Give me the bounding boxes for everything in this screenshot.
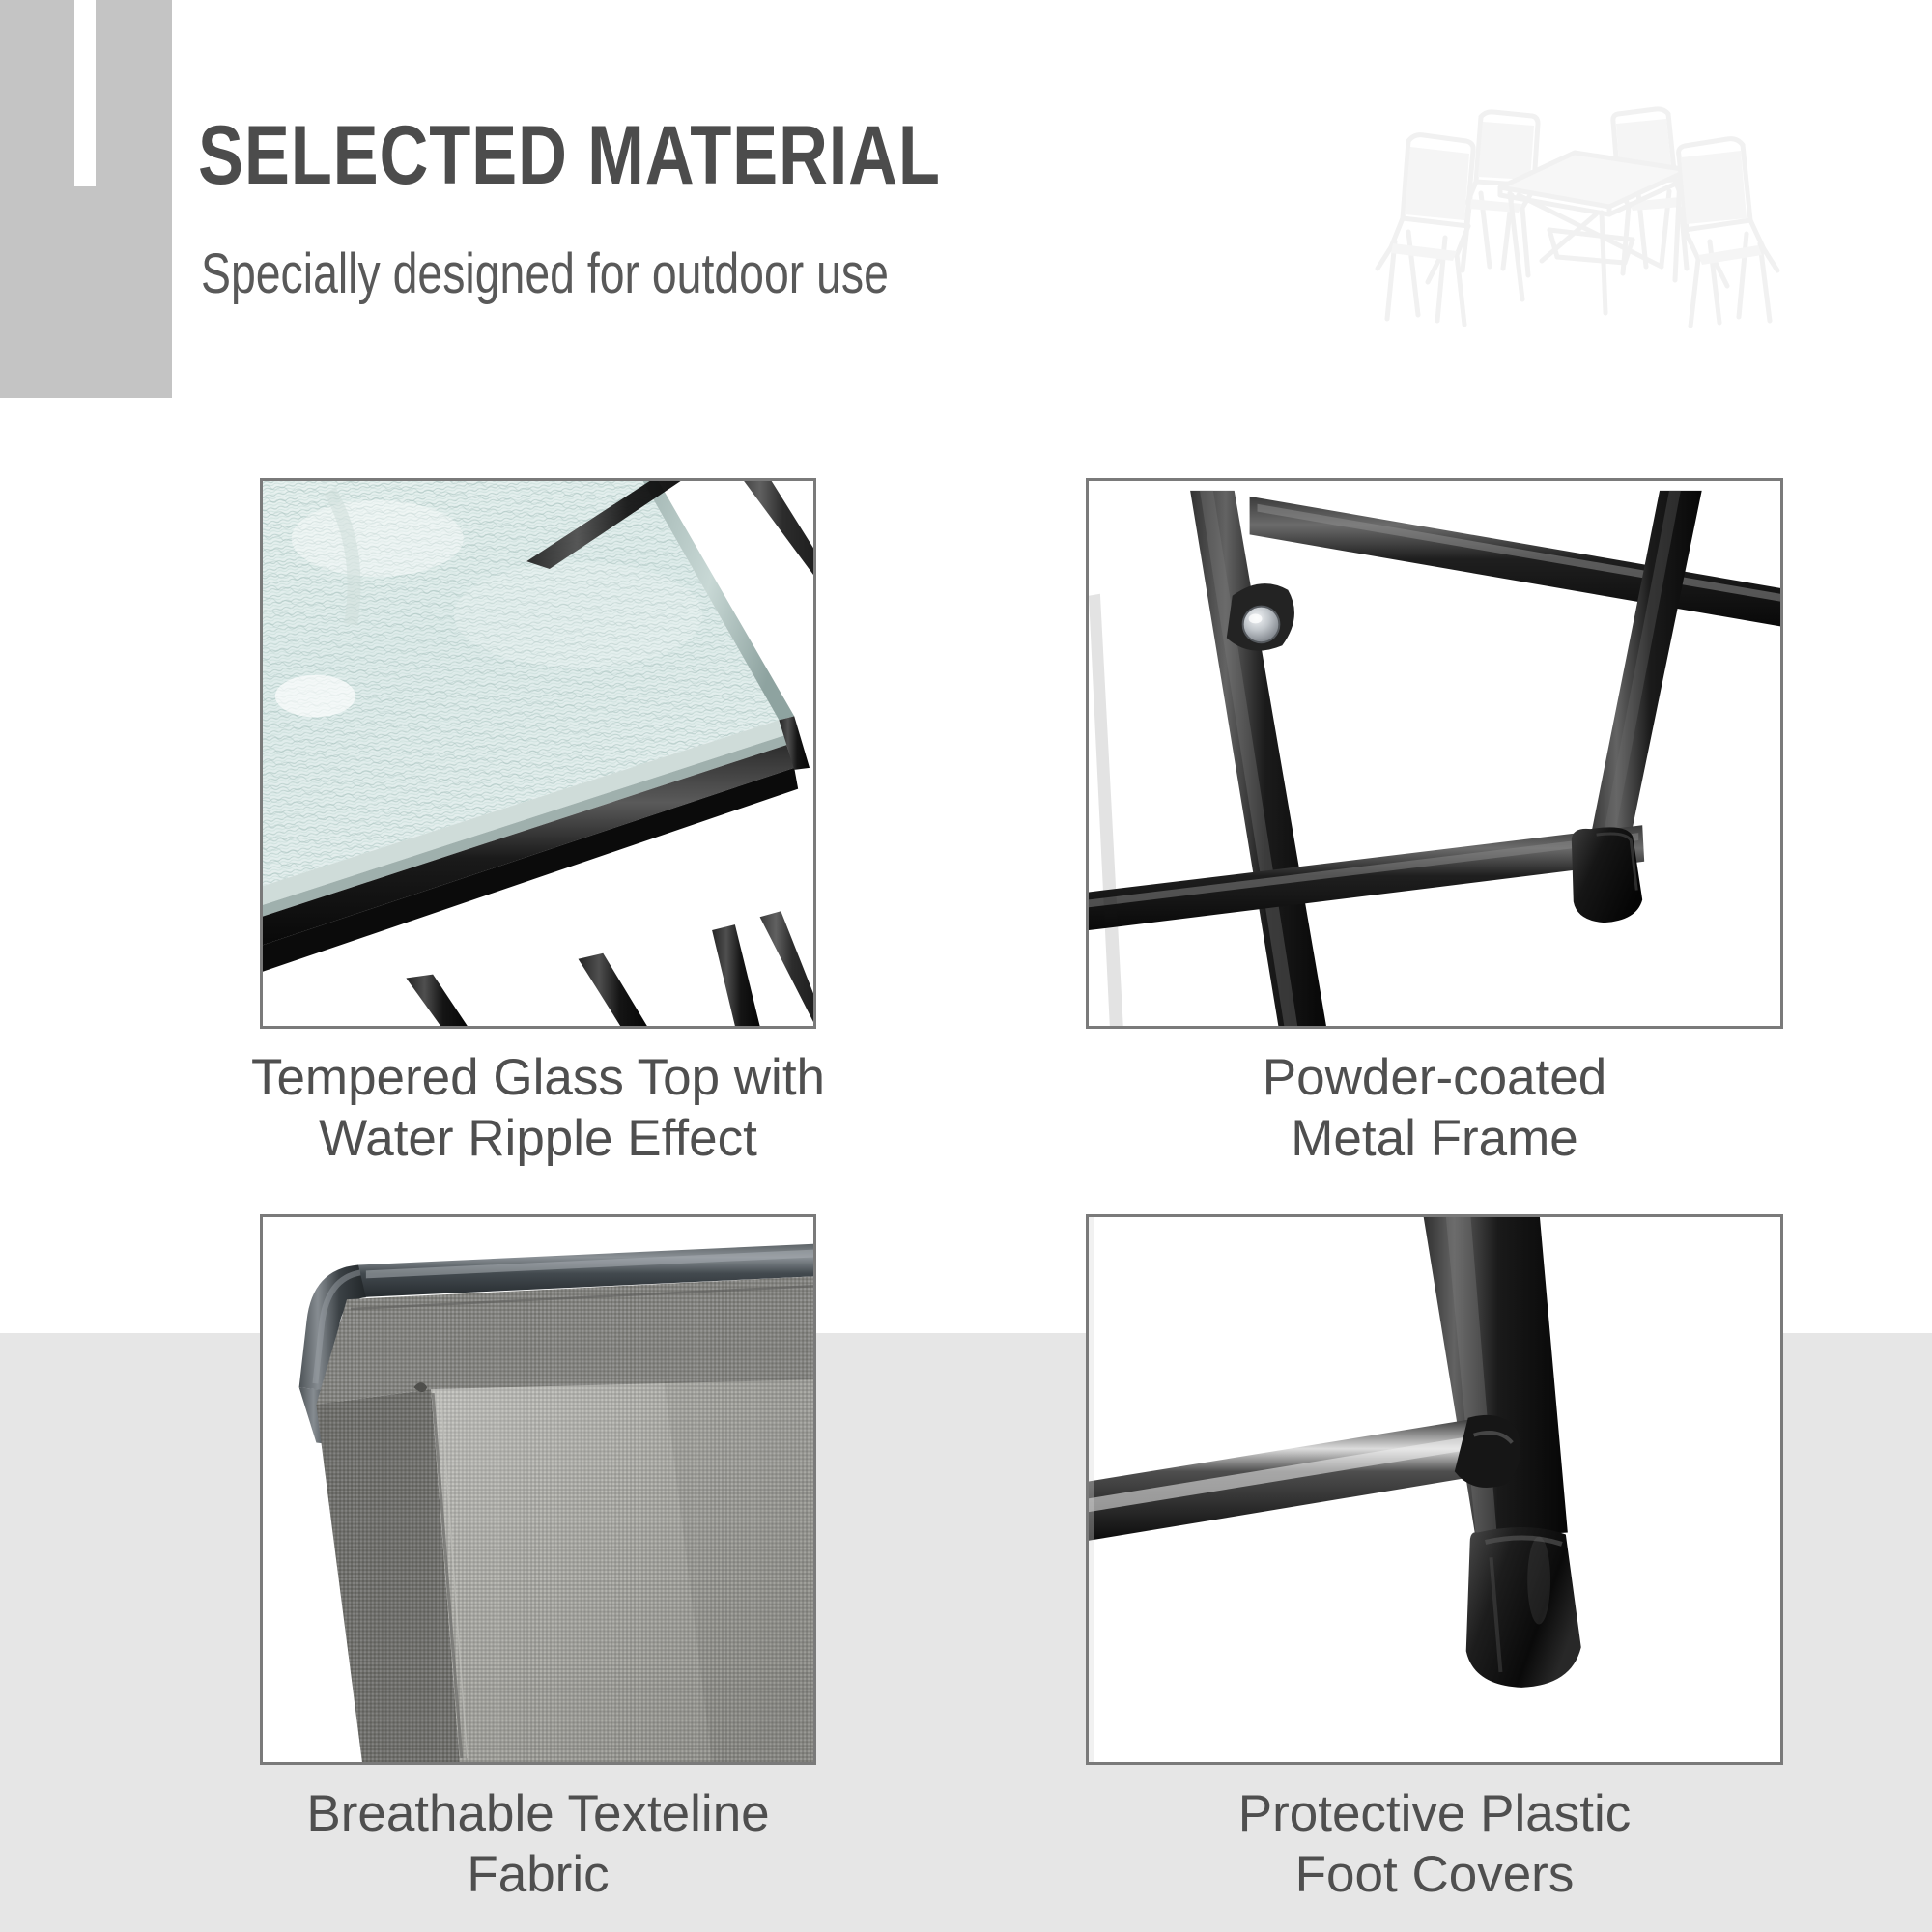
plastic-foot-cover-photo — [1086, 1214, 1783, 1765]
caption-line-1: Breathable Texteline — [221, 1784, 855, 1845]
feature-grid: Tempered Glass Top with Water Ripple Eff… — [0, 0, 1932, 1932]
feature-caption-metal-frame: Powder-coated Metal Frame — [1047, 1048, 1822, 1169]
feature-card-tempered-glass[interactable]: Tempered Glass Top with Water Ripple Eff… — [260, 478, 816, 1029]
caption-line-2: Metal Frame — [1047, 1109, 1822, 1170]
feature-caption-tempered-glass: Tempered Glass Top with Water Ripple Eff… — [221, 1048, 855, 1169]
texteline-mesh-fabric-photo — [260, 1214, 816, 1765]
feature-caption-texteline-fabric: Breathable Texteline Fabric — [221, 1784, 855, 1905]
feature-caption-foot-covers: Protective Plastic Foot Covers — [1047, 1784, 1822, 1905]
caption-line-1: Tempered Glass Top with — [221, 1048, 855, 1109]
caption-line-1: Protective Plastic — [1047, 1784, 1822, 1845]
feature-card-metal-frame[interactable]: Powder-coated Metal Frame — [1086, 478, 1783, 1029]
powder-coated-frame-joint-photo — [1086, 478, 1783, 1029]
feature-card-texteline-fabric[interactable]: Breathable Texteline Fabric — [260, 1214, 816, 1765]
caption-line-2: Foot Covers — [1047, 1845, 1822, 1906]
caption-line-2: Water Ripple Effect — [221, 1109, 855, 1170]
tempered-glass-tabletop-photo — [260, 478, 816, 1029]
caption-line-2: Fabric — [221, 1845, 855, 1906]
feature-card-foot-covers[interactable]: Protective Plastic Foot Covers — [1086, 1214, 1783, 1765]
caption-line-1: Powder-coated — [1047, 1048, 1822, 1109]
